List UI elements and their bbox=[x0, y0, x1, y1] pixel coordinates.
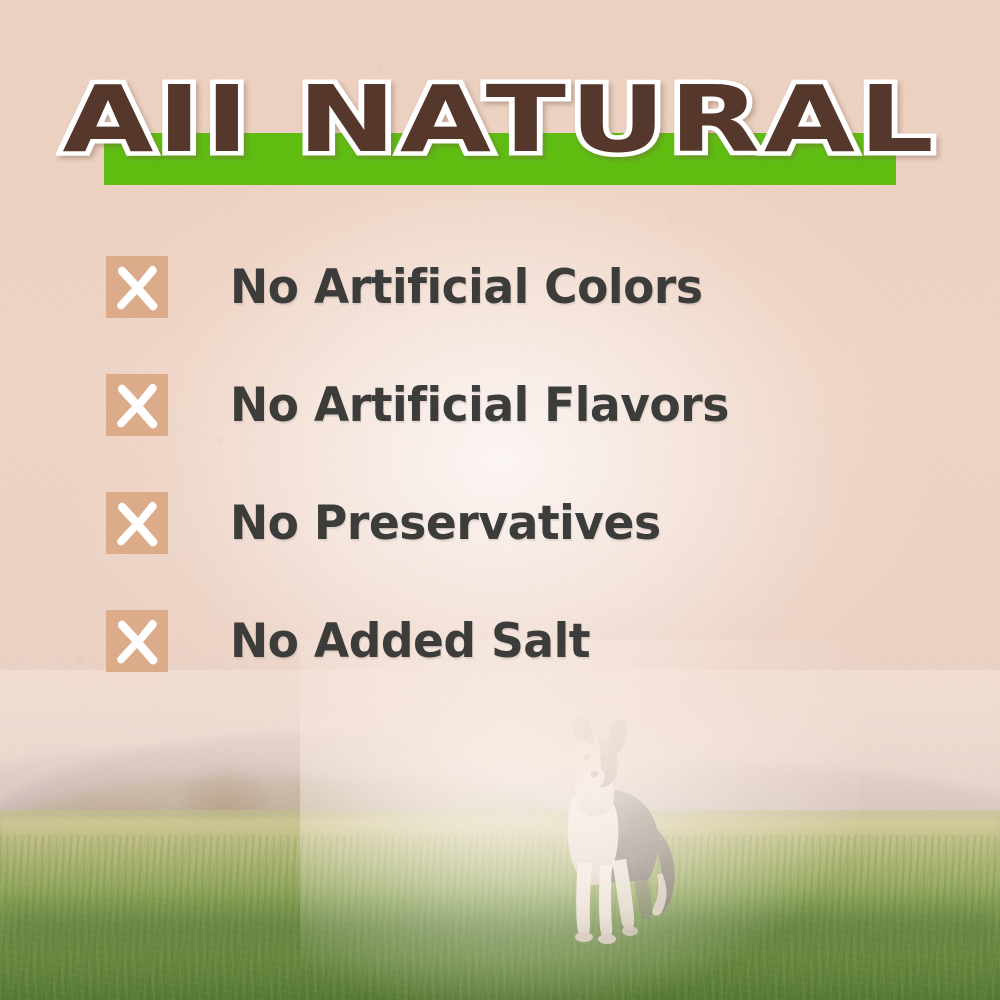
list-item: No Artificial Flavors bbox=[106, 374, 906, 436]
page-title: AII NATURAL bbox=[0, 72, 1000, 168]
product-claims-infographic: AII NATURAL No Artificial Colors No Arti… bbox=[0, 0, 1000, 1000]
x-mark-icon bbox=[106, 374, 168, 436]
claims-list: No Artificial Colors No Artificial Flavo… bbox=[106, 256, 906, 672]
list-item: No Preservatives bbox=[106, 492, 906, 554]
list-item: No Artificial Colors bbox=[106, 256, 906, 318]
list-item-label: No Artificial Flavors bbox=[230, 382, 729, 429]
x-mark-icon bbox=[106, 492, 168, 554]
list-item-label: No Preservatives bbox=[230, 500, 661, 547]
list-item: No Added Salt bbox=[106, 610, 906, 672]
x-mark-icon bbox=[106, 256, 168, 318]
x-mark-icon bbox=[106, 610, 168, 672]
content-layer: AII NATURAL No Artificial Colors No Arti… bbox=[0, 0, 1000, 1000]
list-item-label: No Added Salt bbox=[230, 618, 590, 665]
list-item-label: No Artificial Colors bbox=[230, 264, 703, 311]
